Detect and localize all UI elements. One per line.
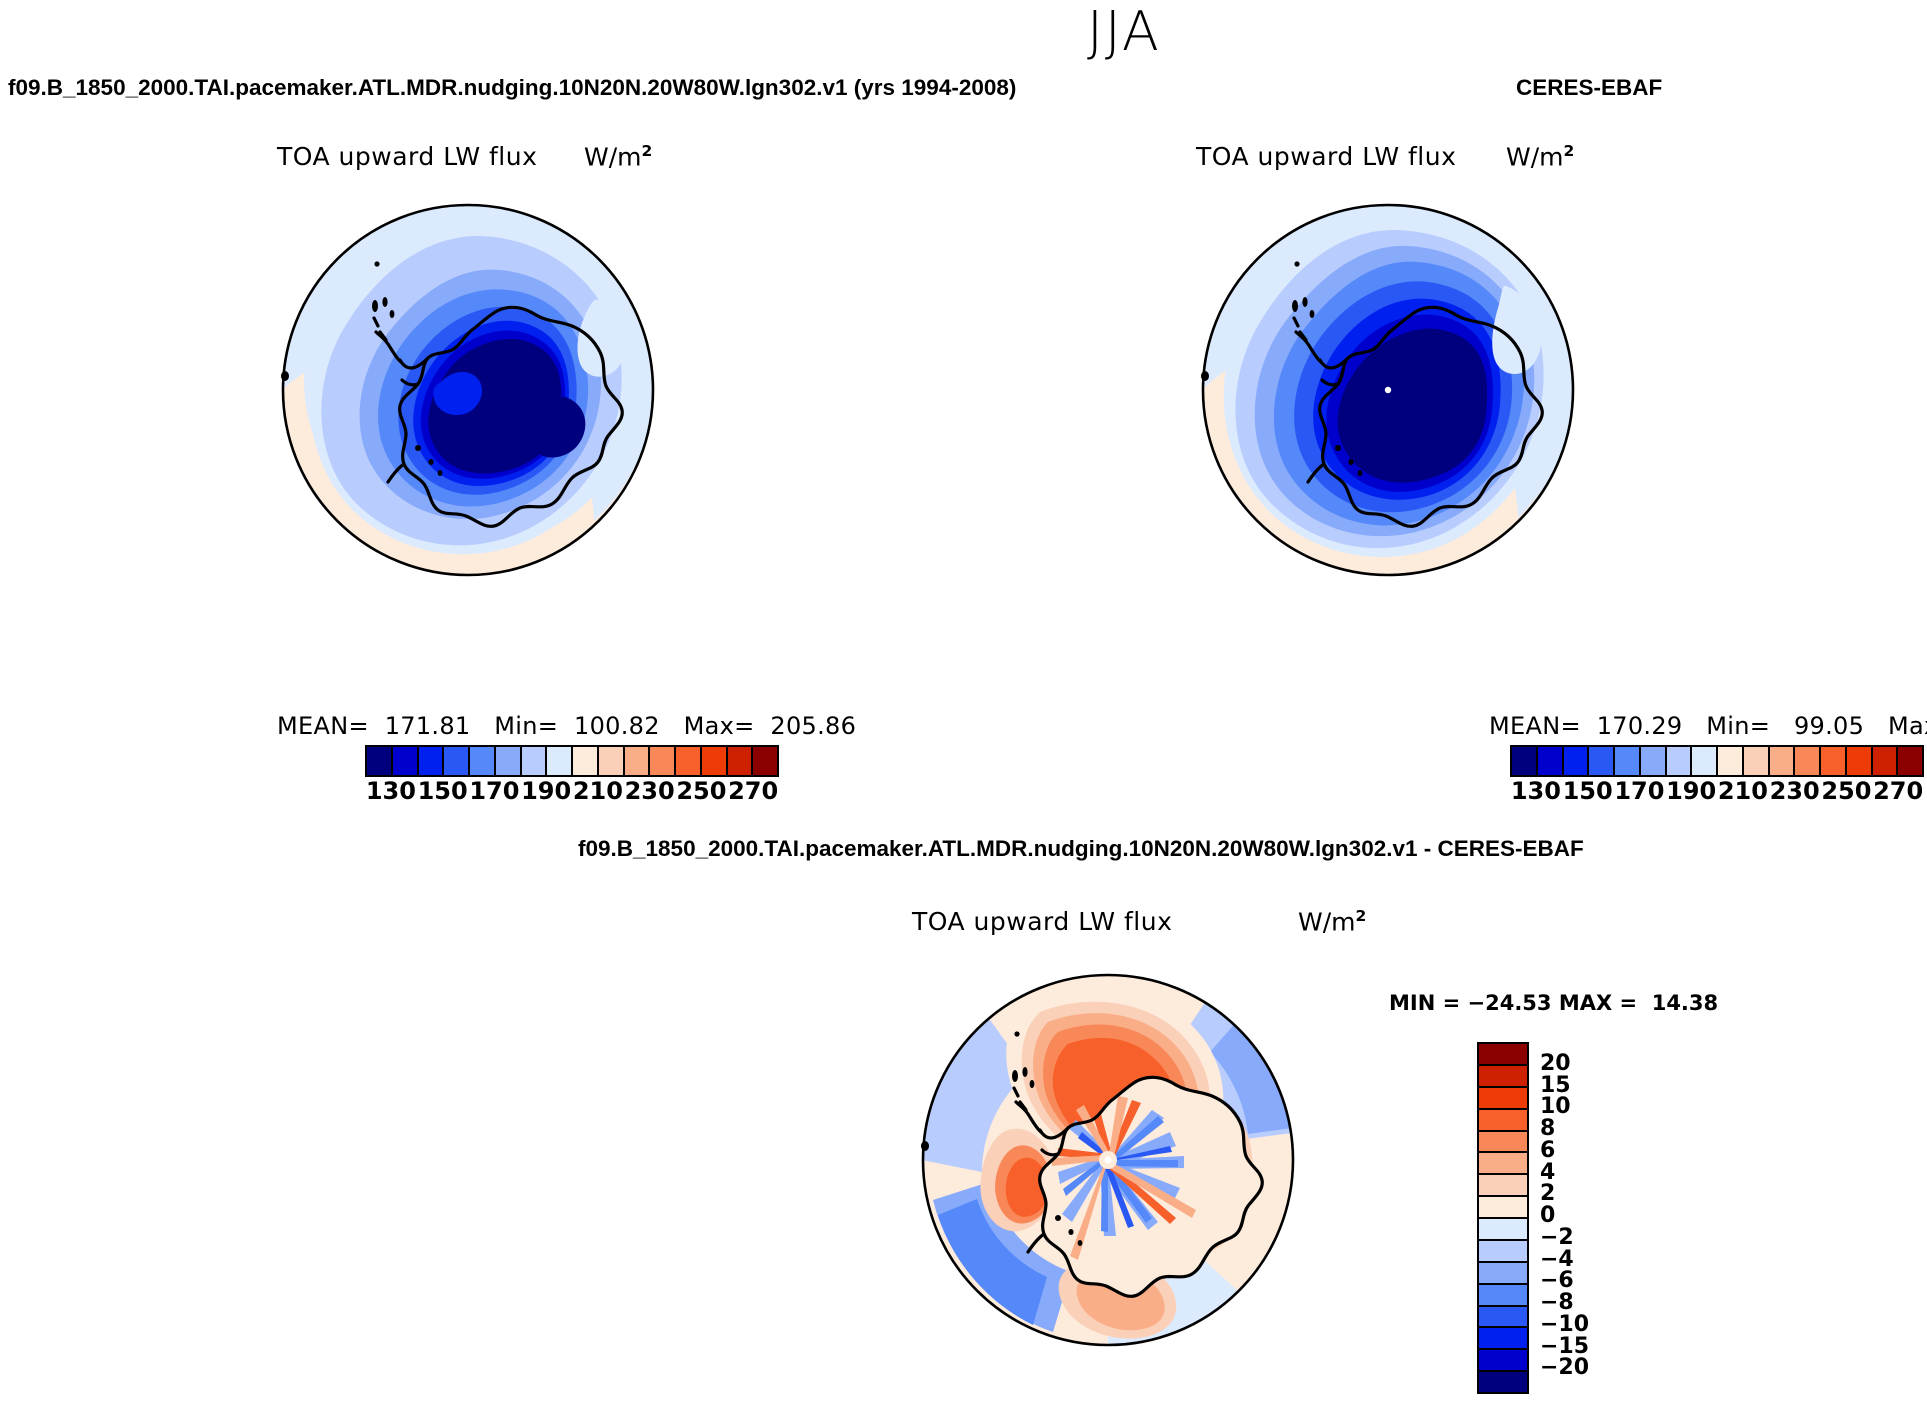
colorbar-cell [1479, 1241, 1527, 1263]
colorbar-cell [728, 747, 754, 775]
obs-colorbar-cells [1510, 745, 1924, 777]
model-units-label: W/m2 [584, 142, 652, 171]
colorbar-tick-label: −20 [1540, 1357, 1589, 1379]
colorbar-tick-label: 150 [1563, 777, 1613, 805]
colorbar-cell [1479, 1285, 1527, 1307]
colorbar-tick-label: 6 [1540, 1140, 1555, 1162]
colorbar-cell [1512, 747, 1538, 775]
colorbar-tick-label: −10 [1540, 1314, 1589, 1336]
colorbar-cell [1479, 1350, 1527, 1372]
obs-stats: MEAN= 170.29 Min= 99.05 Max= 209.14 [1489, 712, 1927, 740]
colorbar-tick-label: 0 [1540, 1205, 1555, 1227]
colorbar-tick-label: −15 [1540, 1336, 1589, 1358]
model-variable-label: TOA upward LW flux [277, 142, 537, 171]
colorbar-cell [1479, 1110, 1527, 1132]
colorbar-tick-label: 20 [1540, 1053, 1571, 1075]
model-units-text: W/m [584, 142, 642, 171]
colorbar-tick-label: −6 [1540, 1270, 1574, 1292]
colorbar-tick-label: 4 [1540, 1162, 1555, 1184]
colorbar-cell [1479, 1219, 1527, 1241]
obs-units-exponent: 2 [1564, 142, 1575, 160]
colorbar-cell [753, 747, 777, 775]
colorbar-tick-label: 270 [1873, 777, 1923, 805]
model-map-svg [268, 190, 668, 590]
colorbar-cell [650, 747, 676, 775]
obs-units-text: W/m [1506, 142, 1564, 171]
colorbar-tick-label: 150 [418, 777, 468, 805]
colorbar-cell [470, 747, 496, 775]
colorbar-cell [1898, 747, 1922, 775]
colorbar-cell [1479, 1132, 1527, 1154]
colorbar-cell [1589, 747, 1615, 775]
colorbar-cell [1615, 747, 1641, 775]
obs-units-label: W/m2 [1506, 142, 1574, 171]
colorbar-cell [1479, 1307, 1527, 1329]
colorbar-tick-label: 230 [625, 777, 675, 805]
colorbar-tick-label: 210 [573, 777, 623, 805]
diff-colorbar-cells [1477, 1042, 1529, 1394]
diff-units-label: W/m2 [1298, 907, 1366, 936]
colorbar-cell [522, 747, 548, 775]
colorbar-cell [599, 747, 625, 775]
colorbar-tick-label: −4 [1540, 1249, 1574, 1271]
colorbar-cell [444, 747, 470, 775]
colorbar-tick-label: 170 [469, 777, 519, 805]
colorbar-tick-label: 210 [1718, 777, 1768, 805]
diff-units-text: W/m [1298, 907, 1356, 936]
colorbar-cell [1718, 747, 1744, 775]
colorbar-cell [625, 747, 651, 775]
obs-colorbar: 130150170190210230250270 [1510, 745, 1924, 807]
colorbar-tick-label: 230 [1770, 777, 1820, 805]
model-units-exponent: 2 [642, 142, 653, 160]
model-polar-map [268, 190, 668, 590]
colorbar-cell [573, 747, 599, 775]
colorbar-cell [1770, 747, 1796, 775]
colorbar-cell [1479, 1372, 1527, 1392]
colorbar-cell [1795, 747, 1821, 775]
colorbar-cell [1564, 747, 1590, 775]
colorbar-cell [1479, 1066, 1527, 1088]
colorbar-tick-label: 190 [1666, 777, 1716, 805]
colorbar-cell [1479, 1175, 1527, 1197]
colorbar-tick-label: 2 [1540, 1183, 1555, 1205]
diff-colorbar-ticks: 20151086420−2−4−6−8−10−15−20 [1540, 1042, 1630, 1390]
obs-colorbar-ticks: 130150170190210230250270 [1510, 777, 1924, 807]
model-colorbar-ticks: 130150170190210230250270 [365, 777, 779, 807]
colorbar-tick-label: 10 [1540, 1096, 1571, 1118]
obs-polar-map [1188, 190, 1588, 590]
diff-variable-label: TOA upward LW flux [912, 907, 1172, 936]
colorbar-cell [1744, 747, 1770, 775]
obs-variable-label: TOA upward LW flux [1196, 142, 1456, 171]
colorbar-cell [367, 747, 393, 775]
colorbar-cell [419, 747, 445, 775]
colorbar-cell [1479, 1153, 1527, 1175]
model-colorbar: 130150170190210230250270 [365, 745, 779, 807]
colorbar-cell [1873, 747, 1899, 775]
colorbar-cell [1821, 747, 1847, 775]
colorbar-tick-label: 8 [1540, 1118, 1555, 1140]
obs-map-svg [1188, 190, 1588, 590]
colorbar-tick-label: 170 [1614, 777, 1664, 805]
colorbar-cell [496, 747, 522, 775]
colorbar-cell [393, 747, 419, 775]
season-title: JJA [1087, 0, 1161, 63]
colorbar-tick-label: 250 [676, 777, 726, 805]
colorbar-cell [1479, 1328, 1527, 1350]
colorbar-tick-label: −2 [1540, 1227, 1574, 1249]
colorbar-cell [702, 747, 728, 775]
colorbar-tick-label: −8 [1540, 1292, 1574, 1314]
colorbar-cell [1847, 747, 1873, 775]
diff-minmax: MIN = −24.53 MAX = 14.38 [1389, 991, 1718, 1015]
colorbar-cell [1641, 747, 1667, 775]
colorbar-cell [1479, 1197, 1527, 1219]
colorbar-tick-label: 130 [1511, 777, 1561, 805]
colorbar-tick-label: 130 [366, 777, 416, 805]
colorbar-cell [1479, 1044, 1527, 1066]
colorbar-cell [1692, 747, 1718, 775]
colorbar-cell [1538, 747, 1564, 775]
diff-colorbar [1477, 1042, 1529, 1390]
colorbar-tick-label: 270 [728, 777, 778, 805]
colorbar-cell [1479, 1088, 1527, 1110]
colorbar-cell [1667, 747, 1693, 775]
colorbar-cell [547, 747, 573, 775]
colorbar-tick-label: 190 [521, 777, 571, 805]
diff-panel-title: f09.B_1850_2000.TAI.pacemaker.ATL.MDR.nu… [578, 836, 1584, 862]
obs-panel-title: CERES-EBAF [1516, 75, 1662, 101]
colorbar-tick-label: 15 [1540, 1075, 1571, 1097]
model-stats: MEAN= 171.81 Min= 100.82 Max= 205.86 [277, 712, 856, 740]
obs-pole-marker [1385, 387, 1391, 393]
diff-polar-map [908, 960, 1308, 1360]
diff-units-exponent: 2 [1356, 907, 1367, 925]
colorbar-cell [1479, 1263, 1527, 1285]
diff-map-svg [908, 960, 1308, 1360]
model-colorbar-cells [365, 745, 779, 777]
colorbar-cell [676, 747, 702, 775]
colorbar-tick-label: 250 [1821, 777, 1871, 805]
model-panel-title: f09.B_1850_2000.TAI.pacemaker.ATL.MDR.nu… [8, 75, 1016, 101]
